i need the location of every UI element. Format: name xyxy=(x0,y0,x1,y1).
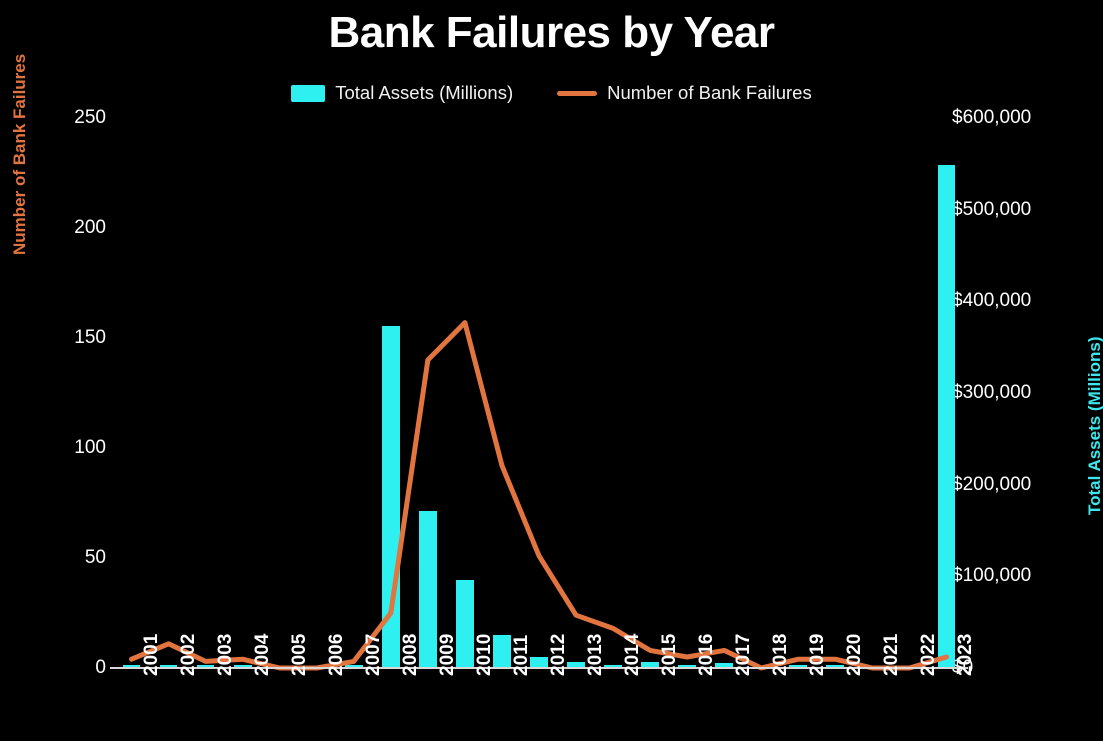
x-axis-tick: 2023 xyxy=(955,634,977,676)
y-axis-left-tick: 150 xyxy=(74,327,106,349)
x-axis-tick: 2010 xyxy=(474,634,496,676)
legend-label-total-assets: Total Assets (Millions) xyxy=(335,82,513,104)
legend-line-swatch-icon xyxy=(557,91,597,96)
x-axis-tick: 2020 xyxy=(844,634,866,676)
x-axis-tick: 2005 xyxy=(289,634,311,676)
x-axis-tick: 2018 xyxy=(770,634,792,676)
x-axis-tick: 2007 xyxy=(363,634,385,676)
legend-item-total-assets[interactable]: Total Assets (Millions) xyxy=(291,82,513,104)
x-axis-tick: 2014 xyxy=(622,634,644,676)
y-axis-left-tick: 50 xyxy=(85,547,106,569)
x-axis-tick: 2011 xyxy=(511,635,533,676)
x-axis-tick: 2012 xyxy=(548,634,570,676)
y-axis-left-title: Number of Bank Failures xyxy=(10,54,30,255)
y-axis-left-tick: 250 xyxy=(74,107,106,129)
line-path xyxy=(132,323,947,668)
y-axis-left-tick: 200 xyxy=(74,217,106,239)
chart-legend: Total Assets (Millions) Number of Bank F… xyxy=(0,82,1103,104)
legend-label-bank-failures: Number of Bank Failures xyxy=(607,82,812,104)
chart-title: Bank Failures by Year xyxy=(0,8,1103,58)
x-axis-tick: 2003 xyxy=(215,634,237,676)
y-axis-right: $0$100,000$200,000$300,000$400,000$500,0… xyxy=(952,118,1062,668)
y-axis-left-tick: 100 xyxy=(74,437,106,459)
x-axis-tick: 2009 xyxy=(437,634,459,676)
chart-container: Bank Failures by Year Total Assets (Mill… xyxy=(0,0,1103,741)
x-axis-tick: 2013 xyxy=(585,634,607,676)
y-axis-right-title: Total Assets (Millions) xyxy=(1085,336,1103,515)
x-axis-tick: 2016 xyxy=(696,634,718,676)
x-axis-tick: 2019 xyxy=(807,634,829,676)
x-axis-tick: 2004 xyxy=(252,634,274,676)
x-axis-tick: 2008 xyxy=(400,634,422,676)
x-axis-labels: 2001200220032004200520062007200820092010… xyxy=(113,672,965,741)
x-axis-tick: 2017 xyxy=(733,634,755,676)
legend-item-bank-failures[interactable]: Number of Bank Failures xyxy=(557,82,812,104)
x-axis-tick: 2015 xyxy=(659,634,681,676)
x-axis-tick: 2021 xyxy=(881,634,903,676)
y-axis-left-tick: 0 xyxy=(95,657,106,679)
x-axis-tick: 2001 xyxy=(141,634,163,676)
x-axis-line xyxy=(110,667,968,669)
y-axis-left: 050100150200250 xyxy=(48,118,106,668)
legend-bar-swatch-icon xyxy=(291,85,325,102)
x-axis-tick: 2022 xyxy=(918,634,940,676)
x-axis-tick: 2006 xyxy=(326,634,348,676)
x-axis-tick: 2002 xyxy=(178,634,200,676)
line-series-bank-failures xyxy=(113,118,965,668)
